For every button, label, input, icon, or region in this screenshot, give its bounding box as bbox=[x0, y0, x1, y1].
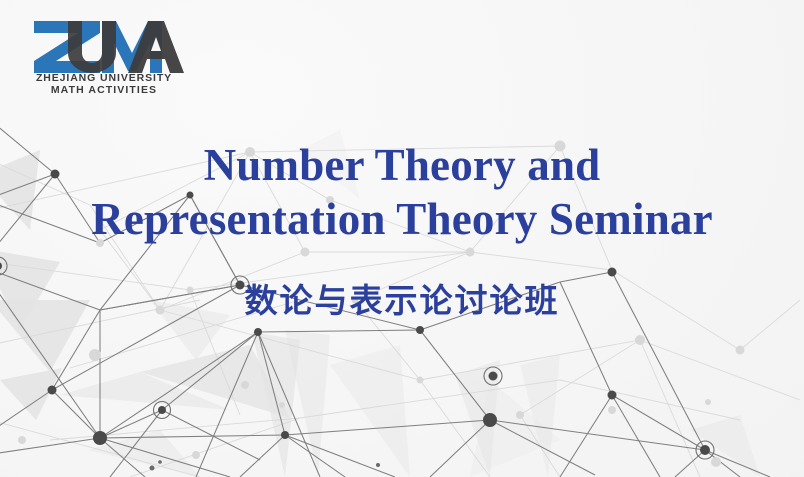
zuma-wordmark-icon bbox=[24, 17, 184, 73]
network-nodes-ringed-core bbox=[489, 372, 498, 381]
seminar-title: Number Theory and Representation Theory … bbox=[0, 138, 804, 246]
logo-subtitle-line1: ZHEJIANG UNIVERSITY bbox=[24, 72, 184, 84]
poster-canvas: ZHEJIANG UNIVERSITY MATH ACTIVITIES Numb… bbox=[0, 0, 804, 477]
logo-subtitle-line2: MATH ACTIVITIES bbox=[24, 84, 184, 96]
seminar-title-chinese: 数论与表示论讨论班 bbox=[0, 281, 804, 321]
seminar-title-line2: Representation Theory Seminar bbox=[0, 192, 804, 246]
zuma-logo: ZHEJIANG UNIVERSITY MATH ACTIVITIES bbox=[24, 17, 184, 100]
seminar-title-line1: Number Theory and bbox=[0, 138, 804, 192]
